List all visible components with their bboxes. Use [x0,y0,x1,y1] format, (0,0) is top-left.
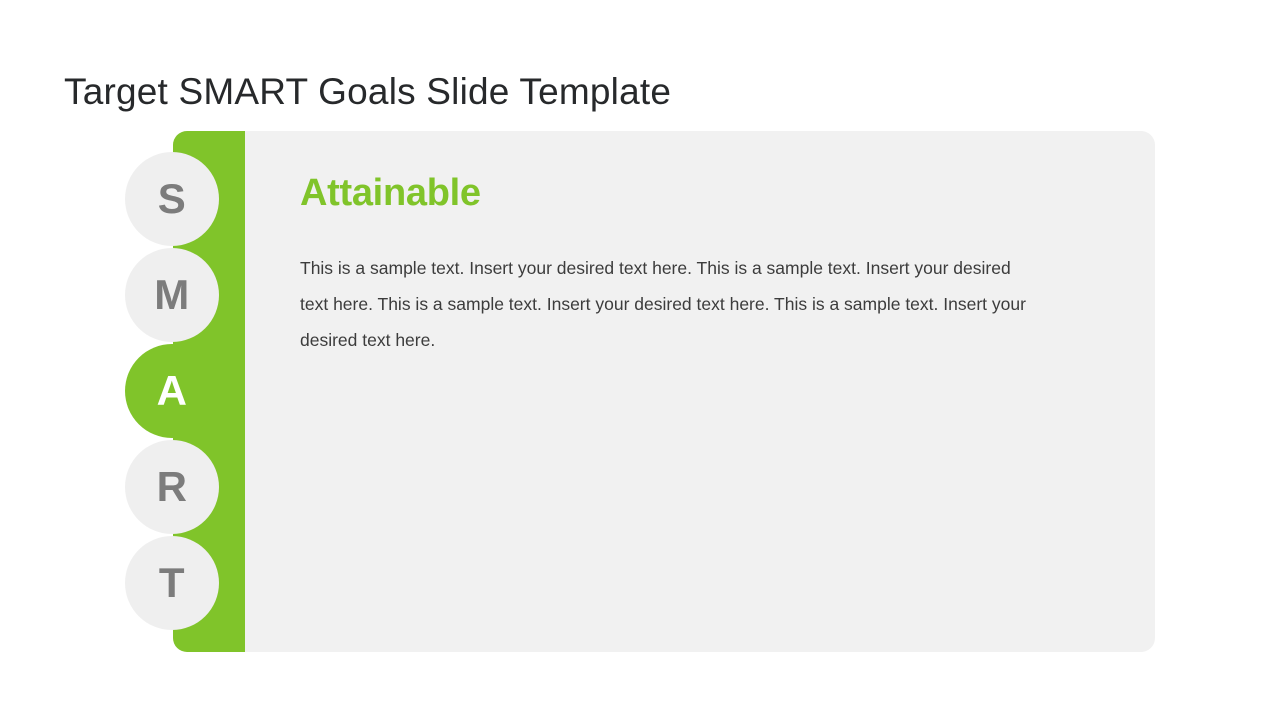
smart-step-letter: T [159,562,185,604]
smart-step-specific[interactable]: S [125,152,219,246]
smart-step-attainable[interactable]: A [125,344,219,438]
section-heading: Attainable [300,172,1040,216]
smart-step-rail: S M A R T [125,152,245,632]
smart-step-letter: S [158,178,187,220]
smart-step-letter: M [154,274,190,316]
slide-canvas: { "slide": { "title": "Target SMART Goal… [0,0,1280,720]
smart-step-timely[interactable]: T [125,536,219,630]
smart-step-letter: A [157,370,188,412]
page-title: Target SMART Goals Slide Template [64,67,671,117]
section-paragraph: This is a sample text. Insert your desir… [300,250,1035,358]
smart-step-letter: R [157,466,188,508]
smart-step-measurable[interactable]: M [125,248,219,342]
smart-step-relevant[interactable]: R [125,440,219,534]
section-content: Attainable This is a sample text. Insert… [300,172,1040,358]
